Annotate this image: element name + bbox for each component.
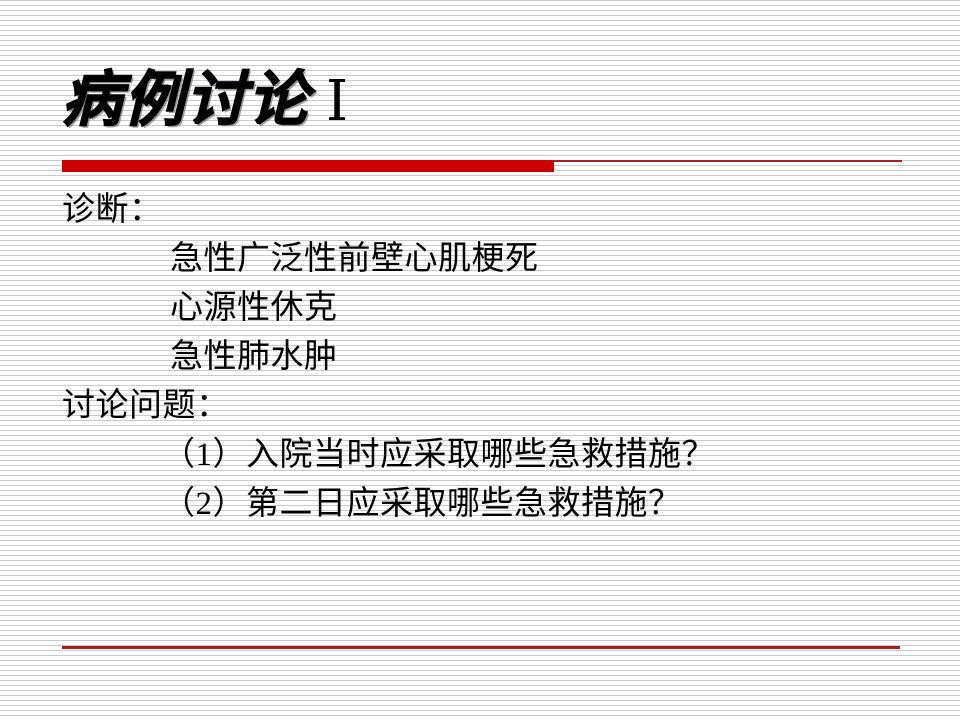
list-item: 急性广泛性前壁心肌梗死 bbox=[62, 235, 922, 284]
slide-title-text: 病例讨论 bbox=[62, 58, 310, 142]
slide-title-numeral: Ⅰ bbox=[326, 60, 350, 144]
presentation-slide: 病例讨论 Ⅰ 诊断： 急性广泛性前壁心肌梗死 心源性休克 急性肺水肿 讨论问题：… bbox=[0, 0, 960, 720]
slide-title: 病例讨论 Ⅰ bbox=[62, 58, 922, 144]
title-divider bbox=[62, 160, 902, 172]
footer-divider bbox=[62, 646, 900, 649]
list-item: （2）第二日应采取哪些急救措施？ bbox=[62, 480, 922, 529]
section-heading-questions: 讨论问题： bbox=[62, 382, 922, 431]
list-item: 急性肺水肿 bbox=[62, 333, 922, 382]
title-divider-thick-bar bbox=[62, 160, 554, 172]
list-item: （1）入院当时应采取哪些急救措施？ bbox=[62, 431, 922, 480]
section-heading-diagnosis: 诊断： bbox=[62, 186, 922, 235]
title-block: 病例讨论 Ⅰ bbox=[62, 58, 922, 148]
slide-content: 病例讨论 Ⅰ 诊断： 急性广泛性前壁心肌梗死 心源性休克 急性肺水肿 讨论问题：… bbox=[0, 0, 960, 720]
slide-body: 诊断： 急性广泛性前壁心肌梗死 心源性休克 急性肺水肿 讨论问题： （1）入院当… bbox=[62, 186, 922, 529]
list-item: 心源性休克 bbox=[62, 284, 922, 333]
